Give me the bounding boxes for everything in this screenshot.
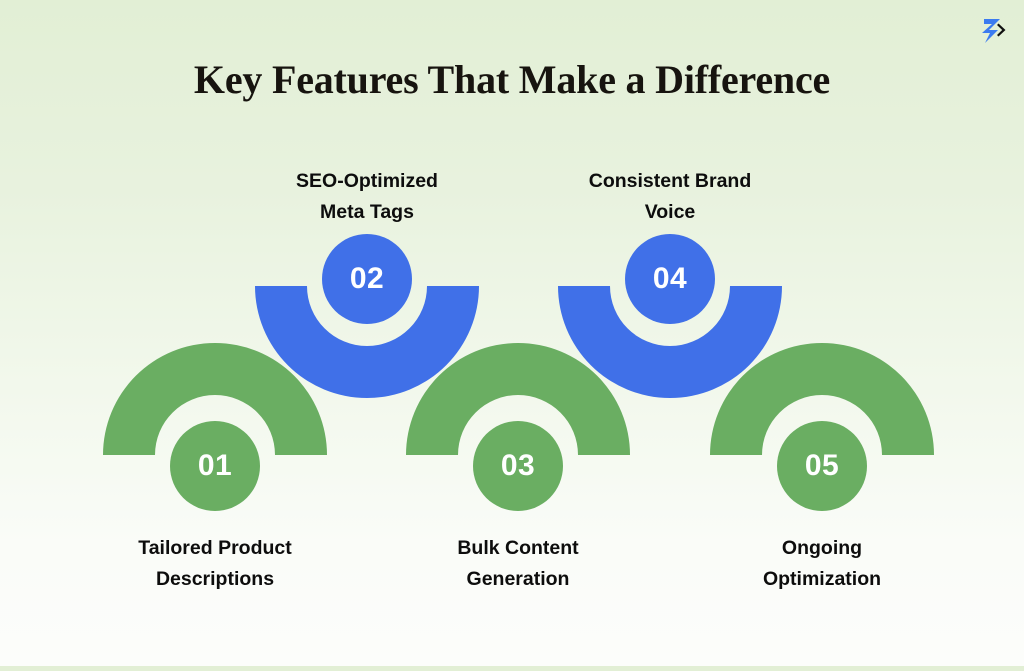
step-number-02: 02 (350, 262, 384, 296)
step-circle-01[interactable]: 01 (170, 421, 260, 511)
infographic-canvas: Key Features That Make a Difference 01 0 (0, 0, 1024, 666)
step-label-05: Ongoing Optimization (672, 533, 972, 595)
step-number-05: 05 (805, 449, 839, 483)
step-number-03: 03 (501, 449, 535, 483)
step-circle-05[interactable]: 05 (777, 421, 867, 511)
step-circle-02[interactable]: 02 (322, 234, 412, 324)
step-label-04: Consistent Brand Voice (520, 166, 820, 228)
step-label-02: SEO-Optimized Meta Tags (217, 166, 517, 228)
step-label-01: Tailored Product Descriptions (65, 533, 365, 595)
step-number-01: 01 (198, 449, 232, 483)
step-label-03: Bulk Content Generation (368, 533, 668, 595)
step-circle-03[interactable]: 03 (473, 421, 563, 511)
step-circle-04[interactable]: 04 (625, 234, 715, 324)
step-number-04: 04 (653, 262, 687, 296)
